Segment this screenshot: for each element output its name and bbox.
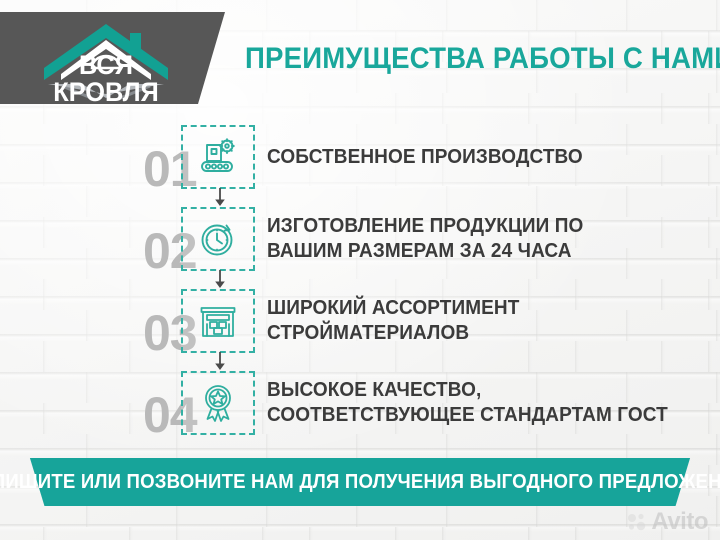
list-item: 01 xyxy=(0,122,720,204)
step-text: СОБСТВЕННОЕ ПРОИЗВОДСТВО xyxy=(267,122,676,192)
step-text-line: СОБСТВЕННОЕ ПРОИЗВОДСТВО xyxy=(267,145,676,170)
storefront-boxes-icon xyxy=(197,300,239,342)
step-icon-box xyxy=(181,289,255,353)
benefits-list: 01 xyxy=(0,122,720,450)
avito-watermark-text: Avito xyxy=(651,508,708,536)
step-text: ШИРОКИЙ АССОРТИМЕНТ СТРОЙМАТЕРИАЛОВ xyxy=(267,286,676,356)
arrow-down-icon xyxy=(212,352,228,372)
step-icon-box xyxy=(181,207,255,271)
step-text-line: ВАШИМ РАЗМЕРАМ ЗА 24 ЧАСА xyxy=(267,239,676,264)
list-item: 04 ВЫСОКОЕ КАЧЕСТВО, СООТВЕТСТВУЮЩЕЕ СТА… xyxy=(0,368,720,450)
step-text-line: СТРОЙМАТЕРИАЛОВ xyxy=(267,321,676,346)
step-text-line: ШИРОКИЙ АССОРТИМЕНТ xyxy=(267,296,676,321)
logo: ВСЯ КРОВЛЯ xyxy=(18,16,194,100)
arrow-down-icon xyxy=(212,270,228,290)
logo-wordmark: ВСЯ КРОВЛЯ xyxy=(23,52,188,106)
clock-refresh-icon xyxy=(196,218,240,260)
step-text-line: ИЗГОТОВЛЕНИЕ ПРОДУКЦИИ ПО xyxy=(267,214,676,239)
step-icon-box xyxy=(181,125,255,189)
cta-banner-text: НАПИШИТЕ ИЛИ ПОЗВОНИТЕ НАМ ДЛЯ ПОЛУЧЕНИЯ… xyxy=(25,458,695,506)
header: ВСЯ КРОВЛЯ ПРЕИМУЩЕСТВА РАБОТЫ С НАМИ: xyxy=(0,12,720,104)
step-text: ИЗГОТОВЛЕНИЕ ПРОДУКЦИИ ПО ВАШИМ РАЗМЕРАМ… xyxy=(267,204,676,274)
step-text: ВЫСОКОЕ КАЧЕСТВО, СООТВЕТСТВУЮЩЕЕ СТАНДА… xyxy=(267,368,676,438)
arrow-down-icon xyxy=(212,188,228,208)
avito-dots-icon xyxy=(627,512,647,532)
promo-poster: ВСЯ КРОВЛЯ ПРЕИМУЩЕСТВА РАБОТЫ С НАМИ: 0… xyxy=(0,0,720,540)
list-item: 03 ШИРОКИЙ АССОРТИМЕНТ СТРОЙМАТЕ xyxy=(0,286,720,368)
step-text-line: СООТВЕТСТВУЮЩЕЕ СТАНДАРТАМ ГОСТ xyxy=(267,403,676,428)
step-icon-box xyxy=(181,371,255,435)
page-title: ПРЕИМУЩЕСТВА РАБОТЫ С НАМИ: xyxy=(245,42,676,76)
conveyor-gear-icon xyxy=(194,136,242,178)
list-item: 02 ИЗГОТОВЛЕНИЕ ПРОДУКЦИИ П xyxy=(0,204,720,286)
award-ribbon-icon xyxy=(198,381,238,425)
step-text-line: ВЫСОКОЕ КАЧЕСТВО, xyxy=(267,378,676,403)
avito-watermark: Avito xyxy=(627,508,708,536)
cta-banner[interactable]: НАПИШИТЕ ИЛИ ПОЗВОНИТЕ НАМ ДЛЯ ПОЛУЧЕНИЯ… xyxy=(0,458,720,506)
